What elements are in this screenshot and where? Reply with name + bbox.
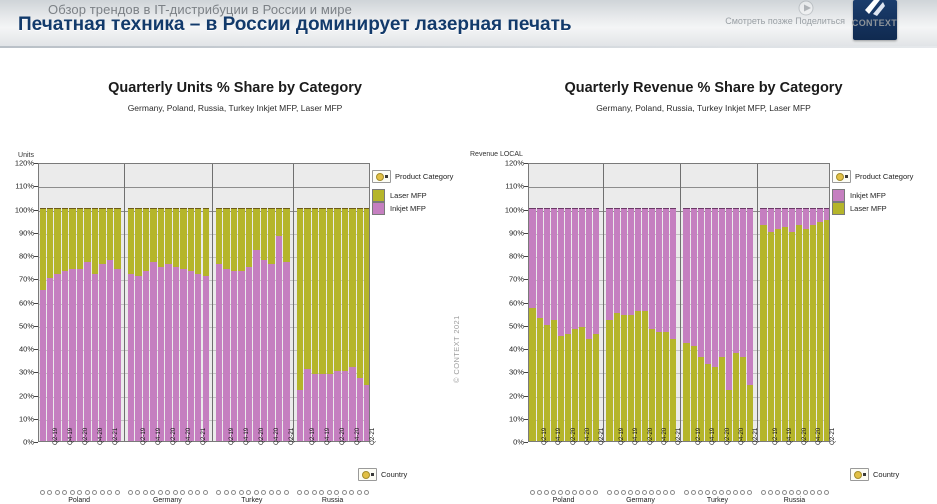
- bar-segment-laser: [349, 208, 355, 367]
- x-axis-tick-label: Q4-19: [155, 428, 162, 445]
- x-axis-tick-label: Q4-20: [815, 428, 822, 445]
- slide-body: Quarterly Units % Share by Category Germ…: [0, 48, 937, 440]
- bar-segment-inkjet: [54, 274, 60, 441]
- bar[interactable]: [712, 163, 718, 441]
- x-axis-point-marker: [342, 490, 347, 495]
- x-axis-point-marker: [284, 490, 289, 495]
- bar-segment-laser: [565, 334, 571, 441]
- bar[interactable]: [54, 163, 60, 441]
- bar-segment-inkjet: [231, 271, 237, 441]
- bar-segment-laser: [195, 208, 201, 274]
- x-axis-group-label: Germany: [126, 497, 208, 504]
- x-axis-point-marker: [607, 490, 612, 495]
- x-axis-point-marker: [357, 490, 362, 495]
- bar[interactable]: [726, 163, 732, 441]
- bar[interactable]: [747, 163, 753, 441]
- bar-segment-inkjet: [606, 208, 612, 321]
- bar[interactable]: [649, 163, 655, 441]
- bar[interactable]: [297, 163, 303, 441]
- bar-segment-laser: [77, 208, 83, 269]
- y-axis-tick: [524, 349, 528, 350]
- bar[interactable]: [77, 163, 83, 441]
- y-axis-tick: [524, 233, 528, 234]
- bar-segment-laser: [364, 208, 370, 386]
- x-axis-point-marker: [775, 490, 780, 495]
- x-axis-point-marker: [107, 490, 112, 495]
- bar-segment-inkjet: [683, 208, 689, 344]
- bar-segment-laser: [656, 332, 662, 441]
- y-axis-tick: [34, 210, 38, 211]
- bar[interactable]: [593, 163, 599, 441]
- x-axis-point-marker: [621, 490, 626, 495]
- bar[interactable]: [656, 163, 662, 441]
- bar-segment-laser: [158, 208, 164, 267]
- x-axis-tick-label: Q2-21: [288, 428, 295, 445]
- bar-segment-inkjet: [663, 208, 669, 332]
- bar[interactable]: [683, 163, 689, 441]
- bar-segment-laser: [62, 208, 68, 272]
- country-filter-icon[interactable]: [850, 468, 869, 481]
- x-axis-point-marker: [239, 490, 244, 495]
- bar-segment-laser: [572, 329, 578, 441]
- bar-segment-inkjet: [128, 274, 134, 441]
- bar[interactable]: [733, 163, 739, 441]
- bar[interactable]: [203, 163, 209, 441]
- bar-segment-inkjet: [817, 208, 823, 223]
- bar[interactable]: [223, 163, 229, 441]
- x-axis-tick-label: Q2-20: [82, 428, 89, 445]
- x-axis-tick-label: Q2-20: [258, 428, 265, 445]
- y-axis-tick: [34, 326, 38, 327]
- x-axis-tick-label: Q2-21: [112, 428, 119, 445]
- bar[interactable]: [579, 163, 585, 441]
- legend-label: Inkjet MFP: [390, 203, 426, 214]
- bar-segment-laser: [621, 315, 627, 441]
- legend-item[interactable]: Laser MFP: [372, 189, 453, 202]
- bar-segment-laser: [165, 208, 171, 265]
- chart-revenue-title: Quarterly Revenue % Share by Category: [470, 80, 937, 96]
- x-axis-point-marker: [261, 490, 266, 495]
- legend-item[interactable]: Laser MFP: [832, 202, 913, 215]
- bar[interactable]: [246, 163, 252, 441]
- y-axis-tick-label: 100%: [505, 205, 524, 214]
- brand-label: CONTEXT: [852, 18, 897, 28]
- bar[interactable]: [606, 163, 612, 441]
- x-axis-point-marker: [135, 490, 140, 495]
- bar-segment-inkjet: [180, 269, 186, 441]
- bar[interactable]: [276, 163, 282, 441]
- bar[interactable]: [357, 163, 363, 441]
- bar-segment-inkjet: [579, 208, 585, 328]
- bar[interactable]: [69, 163, 75, 441]
- bar[interactable]: [740, 163, 746, 441]
- legend-item[interactable]: Inkjet MFP: [832, 189, 913, 202]
- y-axis-tick-label: 40%: [19, 345, 34, 354]
- bar[interactable]: [691, 163, 697, 441]
- bar[interactable]: [635, 163, 641, 441]
- x-axis-point-marker: [789, 490, 794, 495]
- x-axis-tick-label: Q4-20: [185, 428, 192, 445]
- bar-segment-inkjet: [283, 262, 289, 441]
- bar[interactable]: [107, 163, 113, 441]
- x-axis-tick-label: Q2-19: [618, 428, 625, 445]
- bar-segment-laser: [606, 320, 612, 441]
- bar-segment-inkjet: [614, 208, 620, 314]
- x-axis-tick-label: Q4-19: [555, 428, 562, 445]
- x-axis-point-marker: [231, 490, 236, 495]
- x-axis-point-marker: [276, 490, 281, 495]
- x-axis-point-marker: [747, 490, 752, 495]
- x-axis-point-marker: [691, 490, 696, 495]
- x-axis-tick-label: Q2-21: [200, 428, 207, 445]
- y-axis-tick-label: 20%: [509, 391, 524, 400]
- bar[interactable]: [705, 163, 711, 441]
- bar[interactable]: [195, 163, 201, 441]
- group-separator: [603, 164, 604, 441]
- bar-segment-inkjet: [114, 269, 120, 441]
- x-axis-tick-label: Q4-19: [632, 428, 639, 445]
- bar[interactable]: [719, 163, 725, 441]
- chart-units-plot: [38, 163, 370, 442]
- bar-segment-laser: [319, 208, 325, 374]
- x-axis-tick-label: Q4-20: [354, 428, 361, 445]
- bar[interactable]: [529, 163, 535, 441]
- bar-segment-laser: [334, 208, 340, 372]
- bar-segment-inkjet: [712, 208, 718, 367]
- bar-segment-laser: [663, 332, 669, 441]
- bar-segment-laser: [268, 208, 274, 265]
- group-separator: [680, 164, 681, 441]
- bar-segment-inkjet: [621, 208, 627, 316]
- bar[interactable]: [188, 163, 194, 441]
- bar-segment-laser: [537, 318, 543, 441]
- y-axis-tick: [34, 349, 38, 350]
- legend-filter-icon[interactable]: [372, 170, 391, 183]
- y-axis-tick-label: 10%: [19, 414, 34, 423]
- chart-revenue: Quarterly Revenue % Share by Category Ge…: [470, 48, 937, 440]
- x-axis-tick-label: Q4-19: [67, 428, 74, 445]
- x-axis-tick-label: Q2-19: [228, 428, 235, 445]
- bar-segment-inkjet: [143, 271, 149, 441]
- bar[interactable]: [84, 163, 90, 441]
- x-axis-point-marker: [100, 490, 105, 495]
- y-axis-tick: [524, 396, 528, 397]
- y-axis-tick: [34, 396, 38, 397]
- bar-segment-inkjet: [203, 276, 209, 441]
- x-axis-point-marker: [824, 490, 829, 495]
- y-axis-tick-label: 10%: [509, 414, 524, 423]
- legend-item[interactable]: Inkjet MFP: [372, 202, 453, 215]
- bar[interactable]: [114, 163, 120, 441]
- x-axis-point-marker: [77, 490, 82, 495]
- x-axis-point-marker: [334, 490, 339, 495]
- bar[interactable]: [698, 163, 704, 441]
- bar-segment-inkjet: [40, 290, 46, 441]
- bar-segment-laser: [649, 329, 655, 441]
- bar[interactable]: [775, 163, 781, 441]
- bar-segment-inkjet: [297, 390, 303, 441]
- bar-segment-inkjet: [565, 208, 571, 335]
- bar[interactable]: [158, 163, 164, 441]
- x-axis-point-marker: [656, 490, 661, 495]
- x-axis-point-marker: [733, 490, 738, 495]
- y-axis-tick: [524, 419, 528, 420]
- bar[interactable]: [817, 163, 823, 441]
- bar-segment-inkjet: [628, 208, 634, 316]
- x-axis-group-label: Russia: [759, 497, 830, 504]
- y-axis-tick-label: 90%: [19, 228, 34, 237]
- x-axis-point-marker: [544, 490, 549, 495]
- bar[interactable]: [614, 163, 620, 441]
- bar-segment-laser: [216, 208, 222, 265]
- y-axis-tick-label: 60%: [19, 298, 34, 307]
- bar-segment-inkjet: [635, 208, 641, 311]
- bar-segment-inkjet: [150, 262, 156, 441]
- chart-units-legend: Product Category Laser MFP Inkjet MFP: [372, 170, 453, 215]
- y-axis-tick: [34, 233, 38, 234]
- bar[interactable]: [789, 163, 795, 441]
- legend-title: Product Category: [855, 172, 913, 181]
- y-axis-tick-label: 20%: [19, 391, 34, 400]
- y-axis-tick: [34, 186, 38, 187]
- bar-segment-laser: [593, 334, 599, 441]
- y-axis-tick-label: 80%: [19, 252, 34, 261]
- chart-units-country-legend[interactable]: Country: [358, 468, 407, 481]
- bar[interactable]: [304, 163, 310, 441]
- y-axis-tick-label: 120%: [505, 159, 524, 168]
- bar[interactable]: [173, 163, 179, 441]
- bar-segment-inkjet: [726, 208, 732, 390]
- x-axis-point-marker: [782, 490, 787, 495]
- x-axis-point-marker: [586, 490, 591, 495]
- x-axis-point-marker: [364, 490, 369, 495]
- bar-segment-inkjet: [92, 274, 98, 441]
- bar-segment-inkjet: [246, 267, 252, 441]
- x-axis-point-marker: [726, 490, 731, 495]
- bar[interactable]: [586, 163, 592, 441]
- group-separator: [757, 164, 758, 441]
- bar[interactable]: [663, 163, 669, 441]
- y-axis-tick-label: 30%: [509, 368, 524, 377]
- group-separator: [293, 164, 294, 441]
- bar-segment-laser: [173, 208, 179, 267]
- bar-segment-laser: [810, 225, 816, 441]
- bar-segment-inkjet: [158, 267, 164, 441]
- x-axis-point-marker: [530, 490, 535, 495]
- x-axis-point-marker: [180, 490, 185, 495]
- bar-segment-inkjet: [253, 250, 259, 441]
- bar-segment-inkjet: [47, 278, 53, 441]
- chart-revenue-legend: Product Category Inkjet MFP Laser MFP: [832, 170, 913, 215]
- chart-units-title: Quarterly Units % Share by Category: [0, 80, 470, 96]
- x-axis-point-marker: [558, 490, 563, 495]
- bar[interactable]: [810, 163, 816, 441]
- bar[interactable]: [537, 163, 543, 441]
- bar[interactable]: [628, 163, 634, 441]
- x-axis-tick-label: Q2-21: [752, 428, 759, 445]
- bar-segment-inkjet: [789, 208, 795, 232]
- legend-filter-icon[interactable]: [832, 170, 851, 183]
- chart-units: Quarterly Units % Share by Category Germ…: [0, 48, 470, 440]
- bar-segment-inkjet: [649, 208, 655, 330]
- bar-segment-laser: [796, 225, 802, 441]
- bar[interactable]: [782, 163, 788, 441]
- bar-segment-inkjet: [719, 208, 725, 358]
- chart-revenue-country-legend[interactable]: Country: [850, 468, 899, 481]
- bar[interactable]: [92, 163, 98, 441]
- legend-items: Laser MFP Inkjet MFP: [372, 189, 453, 215]
- bar-segment-laser: [642, 311, 648, 441]
- x-axis-point-marker: [593, 490, 598, 495]
- x-axis-point-marker: [670, 490, 675, 495]
- bar[interactable]: [268, 163, 274, 441]
- x-axis-group-label: Turkey: [214, 497, 289, 504]
- y-axis-tick: [34, 442, 38, 443]
- bar-segment-laser: [276, 208, 282, 237]
- bar[interactable]: [319, 163, 325, 441]
- bar[interactable]: [312, 163, 318, 441]
- bar-segment-inkjet: [740, 208, 746, 358]
- x-axis-group-label: Turkey: [682, 497, 753, 504]
- bar-segment-inkjet: [760, 208, 766, 225]
- bar[interactable]: [180, 163, 186, 441]
- bar-segment-laser: [150, 208, 156, 262]
- bar-segment-inkjet: [537, 208, 543, 318]
- x-axis-tick-label: Q2-19: [52, 428, 59, 445]
- bar-segment-laser: [135, 208, 141, 276]
- x-axis-point-marker: [47, 490, 52, 495]
- y-axis-tick: [34, 163, 38, 164]
- bar[interactable]: [342, 163, 348, 441]
- bar[interactable]: [231, 163, 237, 441]
- bar[interactable]: [670, 163, 676, 441]
- legend-header[interactable]: Product Category: [832, 170, 913, 183]
- bar[interactable]: [551, 163, 557, 441]
- bar[interactable]: [99, 163, 105, 441]
- bar-segment-inkjet: [642, 208, 648, 311]
- bar-segment-inkjet: [238, 271, 244, 441]
- bar[interactable]: [565, 163, 571, 441]
- bar[interactable]: [253, 163, 259, 441]
- bar-segment-laser: [92, 208, 98, 274]
- bar[interactable]: [558, 163, 564, 441]
- play-icon[interactable]: [793, 0, 819, 20]
- bar-segment-laser: [107, 208, 113, 260]
- swatch-laser-icon: [832, 202, 845, 215]
- bar[interactable]: [327, 163, 333, 441]
- x-axis-point-marker: [158, 490, 163, 495]
- bar-segment-inkjet: [69, 269, 75, 441]
- x-axis-point-marker: [55, 490, 60, 495]
- y-axis-tick: [34, 279, 38, 280]
- bar-segment-inkjet: [705, 208, 711, 365]
- bar[interactable]: [165, 163, 171, 441]
- bar-segment-laser: [238, 208, 244, 272]
- bar-segment-laser: [69, 208, 75, 269]
- bar-segment-laser: [246, 208, 252, 267]
- y-axis-tick: [524, 256, 528, 257]
- bar-segment-inkjet: [276, 236, 282, 441]
- bar[interactable]: [283, 163, 289, 441]
- bar-segment-inkjet: [188, 271, 194, 441]
- legend-items: Inkjet MFP Laser MFP: [832, 189, 913, 215]
- bar[interactable]: [261, 163, 267, 441]
- y-axis-tick-label: 0%: [513, 438, 524, 447]
- bar[interactable]: [824, 163, 830, 441]
- bar[interactable]: [544, 163, 550, 441]
- bar-segment-laser: [47, 208, 53, 279]
- x-axis-point-marker: [642, 490, 647, 495]
- x-axis-point-marker: [62, 490, 67, 495]
- bar[interactable]: [768, 163, 774, 441]
- bar[interactable]: [128, 163, 134, 441]
- x-axis-point-marker: [216, 490, 221, 495]
- bar[interactable]: [135, 163, 141, 441]
- bar-segment-inkjet: [165, 264, 171, 441]
- bar[interactable]: [349, 163, 355, 441]
- x-axis-tick-label: Q2-19: [140, 428, 147, 445]
- bar[interactable]: [364, 163, 370, 441]
- y-axis-tick-label: 90%: [509, 228, 524, 237]
- y-axis-tick-label: 100%: [15, 205, 34, 214]
- bar-segment-inkjet: [135, 276, 141, 441]
- x-axis-point-marker: [173, 490, 178, 495]
- bar[interactable]: [47, 163, 53, 441]
- bar[interactable]: [760, 163, 766, 441]
- bar[interactable]: [238, 163, 244, 441]
- y-axis-tick-label: 70%: [19, 275, 34, 284]
- bar[interactable]: [621, 163, 627, 441]
- x-axis-point-marker: [614, 490, 619, 495]
- x-axis-tick-label: Q2-21: [598, 428, 605, 445]
- legend-label: Inkjet MFP: [850, 190, 886, 201]
- bar-segment-laser: [304, 208, 310, 369]
- x-axis-point-marker: [579, 490, 584, 495]
- swatch-inkjet-icon: [372, 202, 385, 215]
- bar-segment-laser: [203, 208, 209, 276]
- bar[interactable]: [572, 163, 578, 441]
- bar-segment-inkjet: [107, 260, 113, 441]
- y-axis-tick: [524, 186, 528, 187]
- bar-segment-inkjet: [782, 208, 788, 228]
- bar[interactable]: [150, 163, 156, 441]
- bar[interactable]: [642, 163, 648, 441]
- video-actions-label: Смотреть позже Поделиться: [725, 16, 845, 26]
- x-axis-tick-label: Q4-19: [709, 428, 716, 445]
- bar[interactable]: [143, 163, 149, 441]
- country-filter-icon[interactable]: [358, 468, 377, 481]
- bar[interactable]: [40, 163, 46, 441]
- x-axis-point-marker: [768, 490, 773, 495]
- y-axis-tick: [34, 419, 38, 420]
- y-axis-tick: [524, 163, 528, 164]
- y-axis-tick-label: 30%: [19, 368, 34, 377]
- y-axis-tick: [524, 326, 528, 327]
- bar-segment-inkjet: [268, 264, 274, 441]
- x-axis-point-marker: [684, 490, 689, 495]
- copyright-watermark: © CONTEXT 2021: [452, 315, 461, 383]
- bar[interactable]: [62, 163, 68, 441]
- x-axis-point-marker: [92, 490, 97, 495]
- bar[interactable]: [796, 163, 802, 441]
- bar[interactable]: [216, 163, 222, 441]
- bar-segment-inkjet: [223, 269, 229, 441]
- x-axis-tick-label: Q4-20: [661, 428, 668, 445]
- y-axis-tick-label: 70%: [509, 275, 524, 284]
- bar[interactable]: [803, 163, 809, 441]
- legend-header[interactable]: Product Category: [372, 170, 453, 183]
- bar[interactable]: [334, 163, 340, 441]
